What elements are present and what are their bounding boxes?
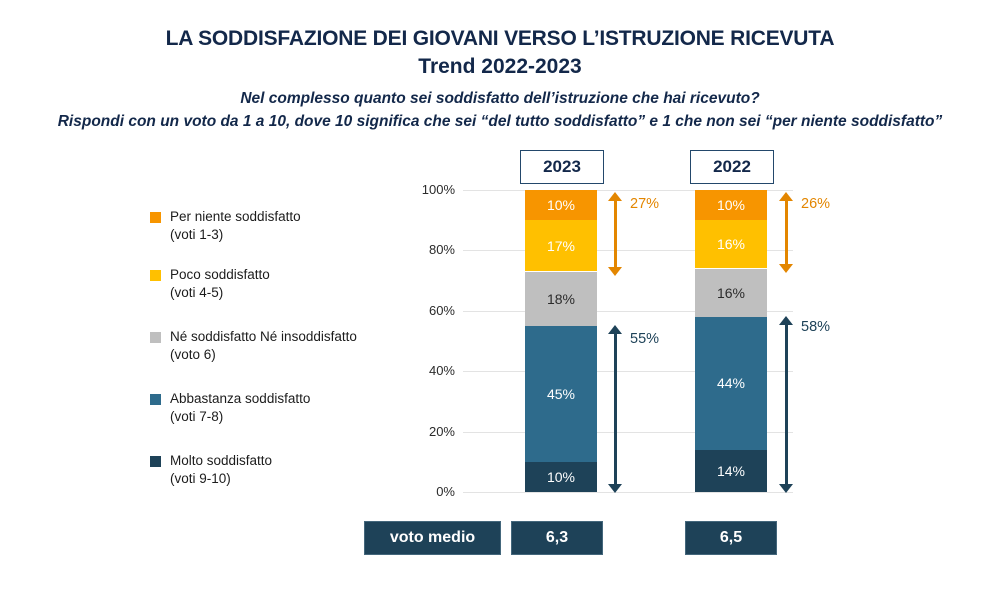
bar-segment-value: 16% [717, 286, 745, 300]
arrow-head-down-icon [608, 267, 622, 276]
bar-segment-value: 45% [547, 387, 575, 401]
plot-area: 100% 80% 60% 40% 20% 0% 2023 10% 17% 18%… [0, 0, 1000, 600]
year-box-2022[interactable]: 2022 [690, 150, 774, 184]
gridline-0 [463, 492, 793, 493]
year-label: 2023 [543, 157, 581, 177]
bar-segment-value: 17% [547, 239, 575, 253]
bar-segment-per-niente-2022[interactable]: 10% [695, 190, 767, 220]
bar-segment-value: 10% [717, 198, 745, 212]
bar-2022[interactable]: 10% 16% 16% 44% 14% [695, 190, 767, 492]
y-axis-tick-label: 20% [429, 425, 455, 438]
arrow-shaft [785, 198, 788, 267]
bar-segment-ne-ne-2022[interactable]: 16% [695, 269, 767, 317]
bar-segment-poco-2023[interactable]: 17% [525, 220, 597, 271]
arrow-shaft [614, 198, 617, 270]
bar-segment-abbastanza-2023[interactable]: 45% [525, 326, 597, 462]
y-axis-tick-label: 0% [436, 485, 455, 498]
bar-segment-value: 16% [717, 237, 745, 251]
voto-medio-value-2022: 6,5 [686, 522, 776, 554]
voto-medio-value-text: 6,3 [546, 529, 568, 547]
bar-segment-value: 14% [717, 464, 745, 478]
bar-segment-ne-ne-2023[interactable]: 18% [525, 272, 597, 326]
year-box-2023[interactable]: 2023 [520, 150, 604, 184]
bar-segment-value: 18% [547, 292, 575, 306]
arrow-head-down-icon [608, 484, 622, 493]
annotation-label-2023-bottom: 55% [630, 332, 659, 346]
annotation-arrow-2023-top [608, 192, 622, 276]
voto-medio-label: voto medio [365, 522, 500, 554]
annotation-label-2022-bottom: 58% [801, 320, 830, 334]
arrow-shaft [614, 331, 617, 487]
voto-medio-label-text: voto medio [390, 529, 475, 547]
year-label: 2022 [713, 157, 751, 177]
annotation-label-2022-top: 26% [801, 197, 830, 211]
y-axis-tick-label: 60% [429, 304, 455, 317]
voto-medio-value-text: 6,5 [720, 529, 742, 547]
bar-segment-value: 10% [547, 198, 575, 212]
bar-segment-molto-2023[interactable]: 10% [525, 462, 597, 492]
annotation-arrow-2023-bottom [608, 325, 622, 493]
y-axis-tick-label: 40% [429, 364, 455, 377]
bar-segment-per-niente-2023[interactable]: 10% [525, 190, 597, 220]
bar-segment-value: 10% [547, 470, 575, 484]
voto-medio-value-2023: 6,3 [512, 522, 602, 554]
bar-segment-poco-2022[interactable]: 16% [695, 220, 767, 268]
arrow-head-down-icon [779, 484, 793, 493]
bar-segment-value: 44% [717, 376, 745, 390]
bar-2023[interactable]: 10% 17% 18% 45% 10% [525, 190, 597, 492]
arrow-head-down-icon [779, 264, 793, 273]
annotation-label-2023-top: 27% [630, 197, 659, 211]
bar-segment-abbastanza-2022[interactable]: 44% [695, 317, 767, 450]
annotation-arrow-2022-top [779, 192, 793, 273]
arrow-shaft [785, 322, 788, 487]
y-axis-tick-label: 80% [429, 243, 455, 256]
chart-page: LA SODDISFAZIONE DEI GIOVANI VERSO L’IST… [0, 0, 1000, 600]
annotation-arrow-2022-bottom [779, 316, 793, 493]
y-axis-tick-label: 100% [422, 183, 455, 196]
bar-segment-molto-2022[interactable]: 14% [695, 450, 767, 492]
